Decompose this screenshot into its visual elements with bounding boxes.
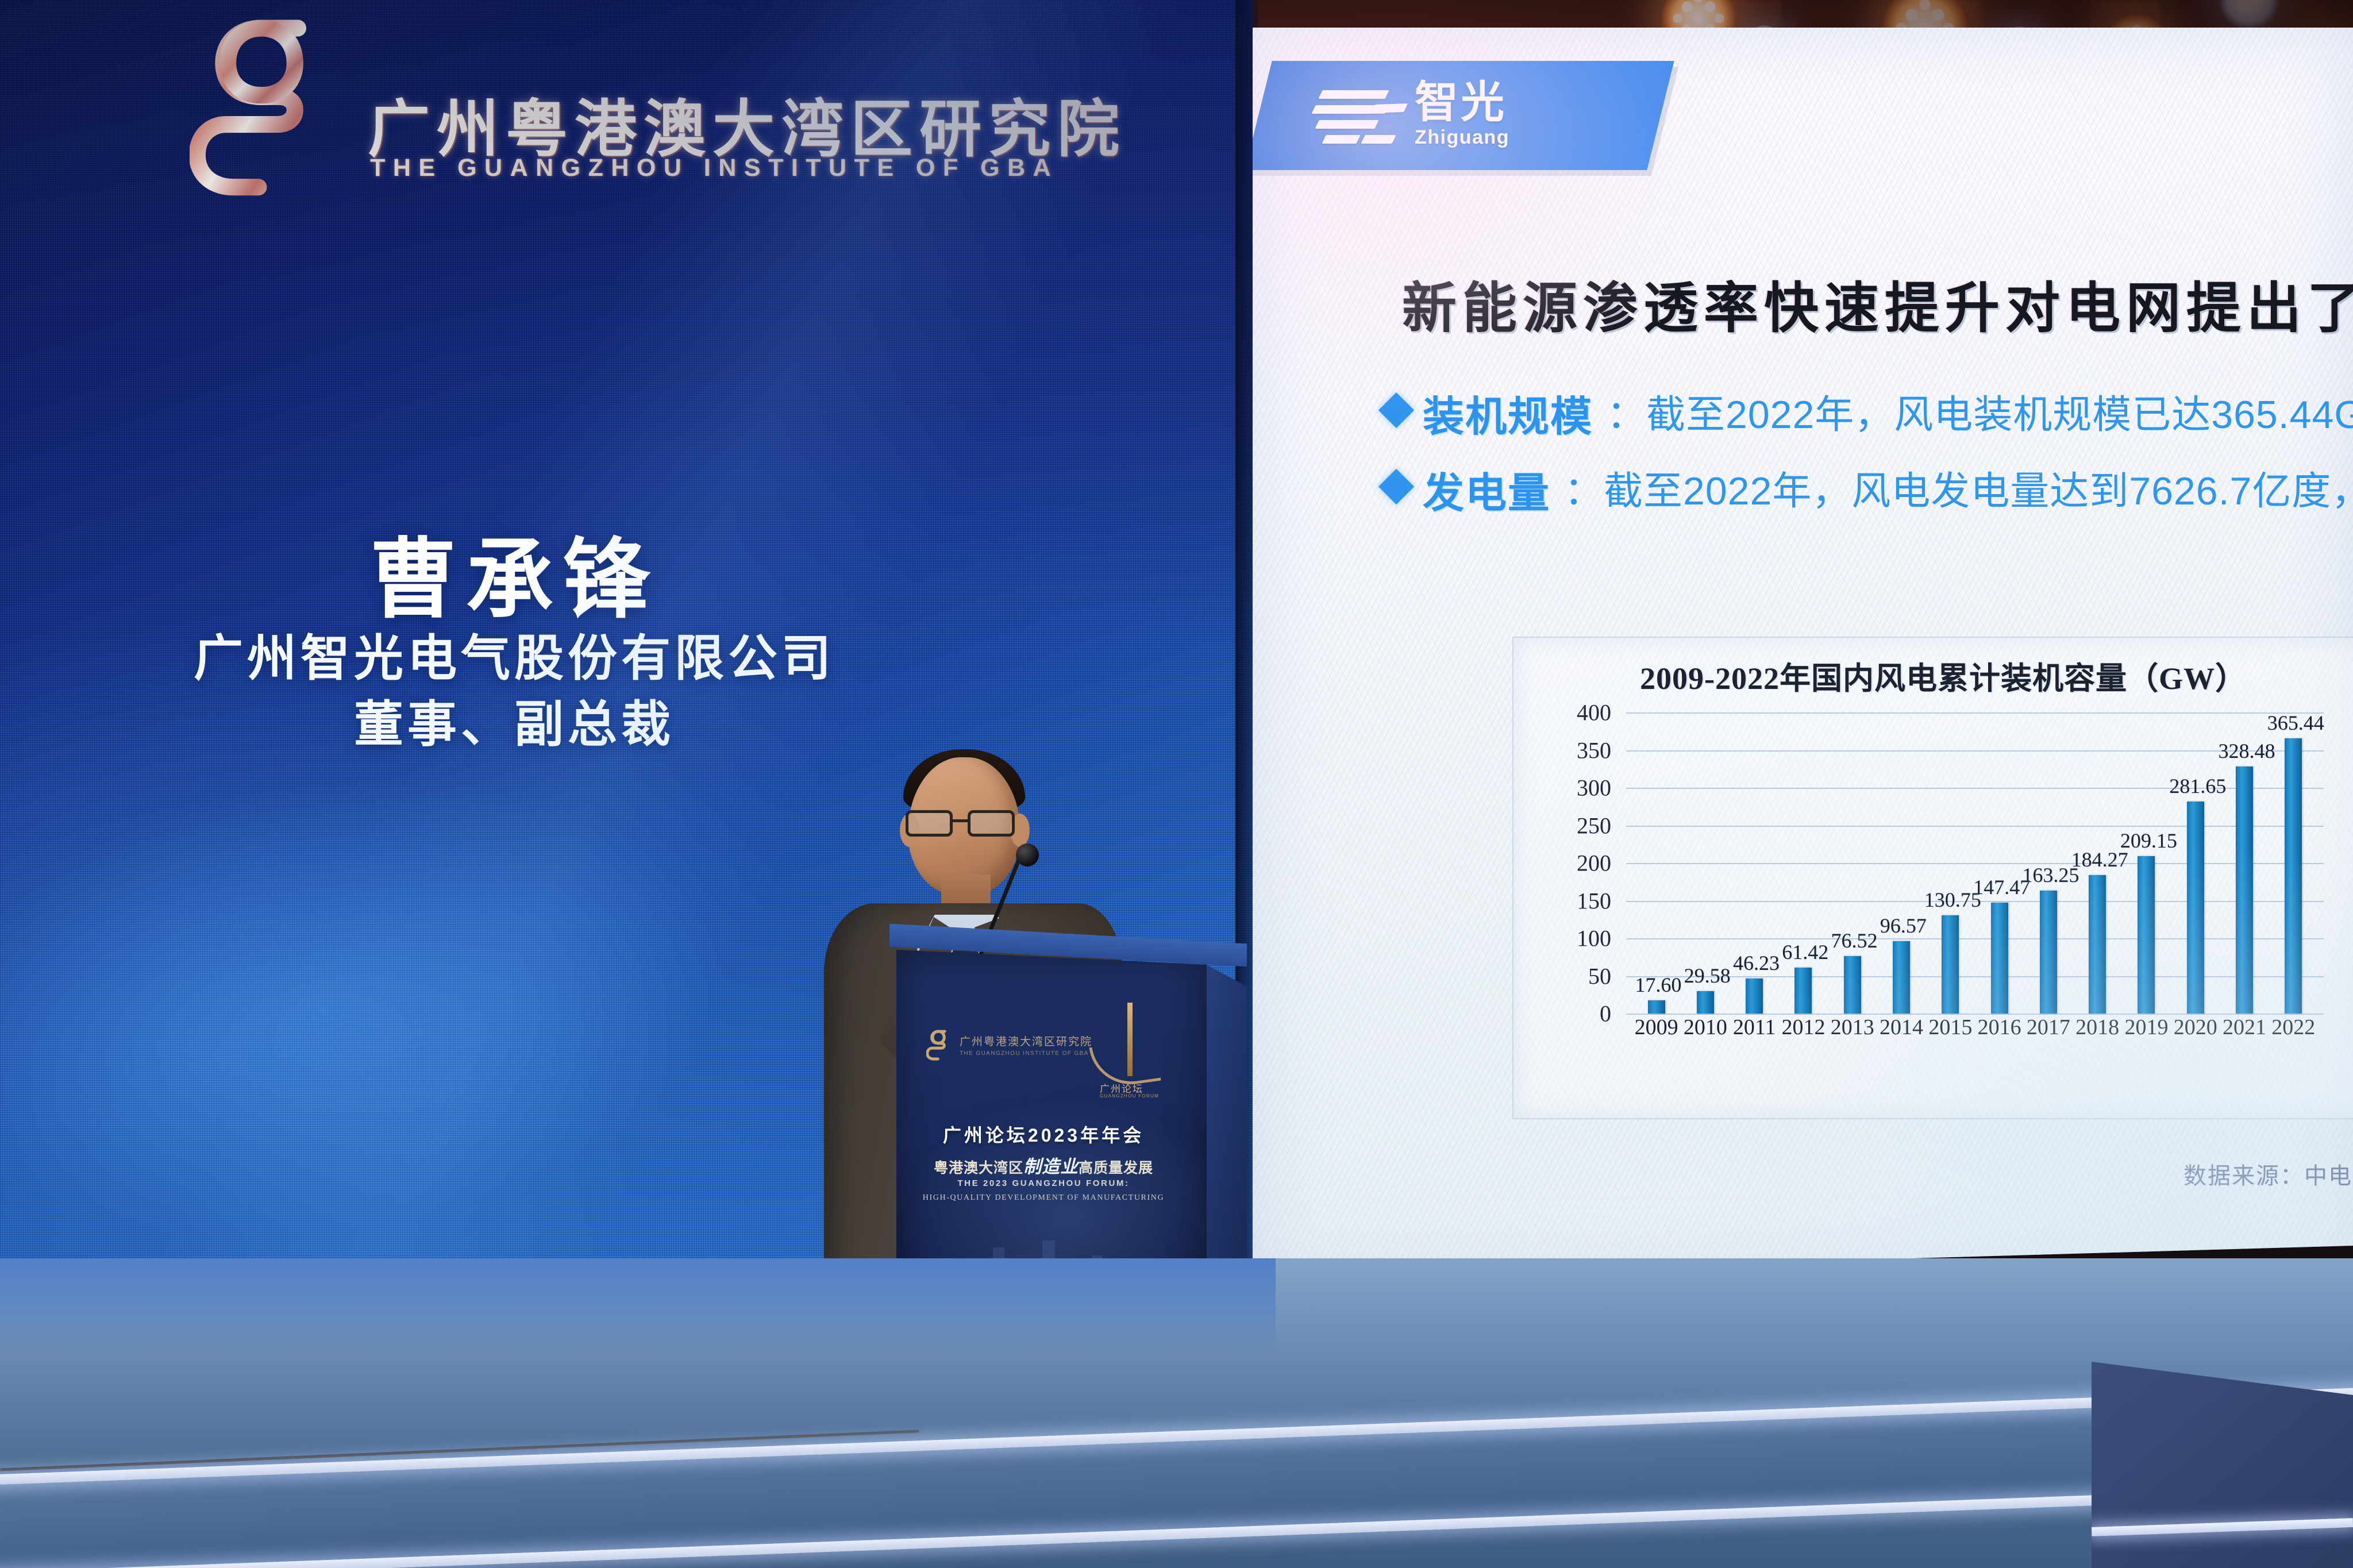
chart-x-tick: 2015 — [1926, 1015, 1975, 1055]
chart-x-tick: 2011 — [1730, 1015, 1779, 1055]
chart-y-tick: 400 — [1577, 699, 1611, 726]
chart-bar — [1746, 978, 1763, 1014]
chart-title: 2009-2022年国内风电累计装机容量（GW） — [1514, 653, 2353, 698]
chart-bar — [2236, 766, 2253, 1014]
chart-x-tick: 2014 — [1877, 1015, 1925, 1055]
zhiguang-mark-icon — [1314, 84, 1400, 147]
chart-bar-slot: 61.42 — [1779, 712, 1828, 1014]
chart-bar — [2040, 891, 2057, 1014]
presentation-slide: 智光 Zhiguang 新能源渗透率快速提升对电网提出了严 装机规模 ：截至20… — [1253, 28, 2353, 1277]
zhiguang-name-en: Zhiguang — [1415, 126, 1509, 149]
chart-bar-value-label: 163.25 — [2022, 863, 2079, 887]
podium-annual-meeting-title: 广州论坛2023年年会 — [896, 1121, 1191, 1147]
chart-bar-value-label: 29.58 — [1684, 964, 1731, 988]
institute-name-en: THE GUANGZHOU INSTITUTE OF GBA — [370, 154, 1058, 182]
chart-y-axis: 400350300250200150100500 — [1514, 712, 1620, 1014]
chart-bar-slot: 365.44 — [2269, 712, 2318, 1014]
chart-x-tick: 2012 — [1779, 1015, 1828, 1055]
chart-bar — [2089, 875, 2106, 1014]
slide-bullet-list: 装机规模 ：截至2022年，风电装机规模已达365.44GW;光 发电量 ：截至… — [1384, 383, 2353, 535]
platform-light-strip — [2092, 1518, 2353, 1536]
diamond-bullet-icon — [1378, 469, 1414, 504]
list-item: 装机规模 ：截至2022年，风电装机规模已达365.44GW;光 — [1384, 383, 2353, 443]
institute-logo-lockup: 广州粤港澳大湾区研究院 THE GUANGZHOU INSTITUTE OF G… — [172, 6, 1069, 213]
chart-bar — [1794, 968, 1812, 1014]
chart-bar-value-label: 147.47 — [1973, 875, 2030, 899]
chart-bar-value-label: 61.42 — [1782, 940, 1828, 964]
chart-bar — [1648, 1000, 1665, 1014]
chart-bar-slot: 29.58 — [1681, 712, 1730, 1014]
chart-bar — [1844, 956, 1861, 1014]
gba-g-monogram-icon — [190, 9, 339, 199]
microphone-icon — [1016, 843, 1039, 866]
chart-bar-slot: 184.27 — [2073, 712, 2122, 1014]
chart-y-tick: 350 — [1577, 737, 1611, 764]
chart-bar-value-label: 46.23 — [1733, 951, 1780, 975]
chart-source-note: 数据来源：中电联 — [2183, 1157, 2353, 1191]
chart-y-tick: 250 — [1577, 812, 1611, 839]
chart-y-tick: 150 — [1577, 887, 1611, 914]
zhiguang-logo-badge: 智光 Zhiguang — [1253, 61, 1674, 170]
chart-bar-value-label: 281.65 — [2169, 774, 2226, 798]
chart-bar — [2285, 738, 2302, 1014]
chart-x-tick: 2020 — [2171, 1015, 2220, 1055]
podium-org-en: THE GUANGZHOU INSTITUTE OF GBA — [960, 1050, 1092, 1057]
chart-x-tick: 2016 — [1975, 1015, 2024, 1055]
speaker-organization: 广州智光电气股份有限公司 — [0, 618, 1029, 689]
chart-bar — [1893, 941, 1910, 1014]
chart-bar-value-label: 130.75 — [1924, 888, 1981, 912]
podium-forum-en-line2: HIGH-QUALITY DEVELOPMENT OF MANUFACTURIN… — [896, 1193, 1191, 1203]
chart-bar — [2138, 856, 2155, 1014]
diamond-bullet-icon — [1378, 392, 1414, 428]
list-item: 发电量 ：截至2022年，风电发电量达到7626.7亿度，占比 — [1384, 459, 2353, 519]
podium-theme: 粤港澳大湾区制造业高质量发展 — [896, 1152, 1191, 1178]
chart-bar-slot: 281.65 — [2171, 712, 2220, 1014]
theme-suffix: 高质量发展 — [1079, 1160, 1153, 1176]
zhiguang-name-cn: 智光 — [1415, 82, 1509, 124]
bullet-label: 装机规模 — [1423, 383, 1593, 443]
chart-bar-slot: 130.75 — [1926, 712, 1975, 1014]
chart-bar — [1942, 915, 1959, 1014]
conference-stage-photo: 广州粤港澳大湾区研究院 THE GUANGZHOU INSTITUTE OF G… — [0, 0, 2353, 1568]
chart-y-tick: 300 — [1577, 775, 1611, 802]
chart-plot-area: 17.6029.5846.2361.4276.5296.57130.75147.… — [1626, 712, 2324, 1014]
speaker-name: 曹承锋 — [0, 508, 1029, 635]
podium-org-cn: 广州粤港澳大湾区研究院 — [960, 1033, 1092, 1049]
podium-forum-en-line1: THE 2023 GUANGZHOU FORUM: — [896, 1178, 1191, 1188]
chart-bar-value-label: 17.60 — [1635, 973, 1681, 997]
chart-bar — [2187, 802, 2204, 1014]
chart-x-tick: 2017 — [2024, 1015, 2073, 1055]
stage-floor — [0, 1258, 2353, 1568]
slide-title: 新能源渗透率快速提升对电网提出了严 — [1402, 264, 2353, 343]
chart-bar-slot: 163.25 — [2024, 712, 2073, 1014]
chart-bar-value-label: 365.44 — [2267, 711, 2324, 735]
emblem-label-en: GUANGZHOU FORUM — [1100, 1093, 1159, 1099]
institute-name-cn: 广州粤港澳大湾区研究院 — [368, 79, 1126, 169]
emblem-label-cn: 广州论坛 — [1100, 1081, 1143, 1095]
podium-institute-logo: 广州粤港澳大湾区研究院 THE GUANGZHOU INSTITUTE OF G… — [926, 1028, 1092, 1061]
stage-step-riser — [0, 1394, 2353, 1568]
chart-bar-value-label: 96.57 — [1880, 914, 1927, 938]
stage-light-icon — [2219, 0, 2279, 30]
theme-prefix: 粤港澳大湾区 — [934, 1160, 1023, 1176]
chart-x-axis: 2009201020112012201320142015201620172018… — [1626, 1015, 2324, 1055]
theme-highlight: 制造业 — [1023, 1157, 1079, 1177]
bullet-label: 发电量 — [1423, 459, 1550, 519]
chart-bar-value-label: 76.52 — [1831, 929, 1878, 953]
chart-bar — [1697, 991, 1714, 1014]
chart-x-tick: 2009 — [1632, 1015, 1681, 1055]
chart-bar-slot: 17.60 — [1632, 712, 1681, 1014]
speaker-title: 董事、副总裁 — [0, 684, 1029, 756]
chart-x-tick: 2018 — [2073, 1015, 2122, 1055]
wind-capacity-bar-chart: 2009-2022年国内风电累计装机容量（GW） 400350300250200… — [1512, 637, 2353, 1119]
chart-x-tick: 2010 — [1681, 1015, 1730, 1055]
chart-bar-value-label: 328.48 — [2218, 739, 2275, 763]
chart-bar-slot: 96.57 — [1877, 712, 1925, 1014]
chart-x-tick: 2021 — [2220, 1015, 2269, 1055]
bullet-text: ：截至2022年，风电发电量达到7626.7亿度，占比 — [1564, 459, 2353, 516]
chart-bar-slot: 76.52 — [1828, 712, 1877, 1014]
chart-x-tick: 2019 — [2122, 1015, 2171, 1055]
gba-g-monogram-icon — [926, 1028, 952, 1061]
chart-bar-slot: 209.15 — [2122, 712, 2171, 1014]
bullet-text: ：截至2022年，风电装机规模已达365.44GW;光 — [1607, 383, 2353, 440]
chart-x-tick: 2013 — [1828, 1015, 1877, 1055]
chart-y-tick: 100 — [1577, 925, 1611, 952]
chart-bar-value-label: 209.15 — [2120, 829, 2177, 853]
chart-y-tick: 0 — [1600, 1000, 1611, 1027]
chart-y-tick: 50 — [1588, 962, 1611, 989]
eyeglasses-icon — [906, 810, 1024, 839]
chart-bar-slot: 147.47 — [1975, 712, 2024, 1014]
chart-x-tick: 2022 — [2269, 1015, 2318, 1055]
chart-y-tick: 200 — [1577, 850, 1611, 877]
side-stage-platform — [2092, 1362, 2353, 1568]
chart-bar — [1991, 903, 2008, 1014]
chart-bar-slot: 328.48 — [2220, 712, 2269, 1014]
chart-bar-slot: 46.23 — [1730, 712, 1779, 1014]
chart-bar-value-label: 184.27 — [2071, 847, 2128, 872]
guangzhou-forum-emblem-icon: 广州论坛 GUANGZHOU FORUM — [1086, 1003, 1172, 1112]
chart-bars: 17.6029.5846.2361.4276.5296.57130.75147.… — [1626, 712, 2324, 1014]
